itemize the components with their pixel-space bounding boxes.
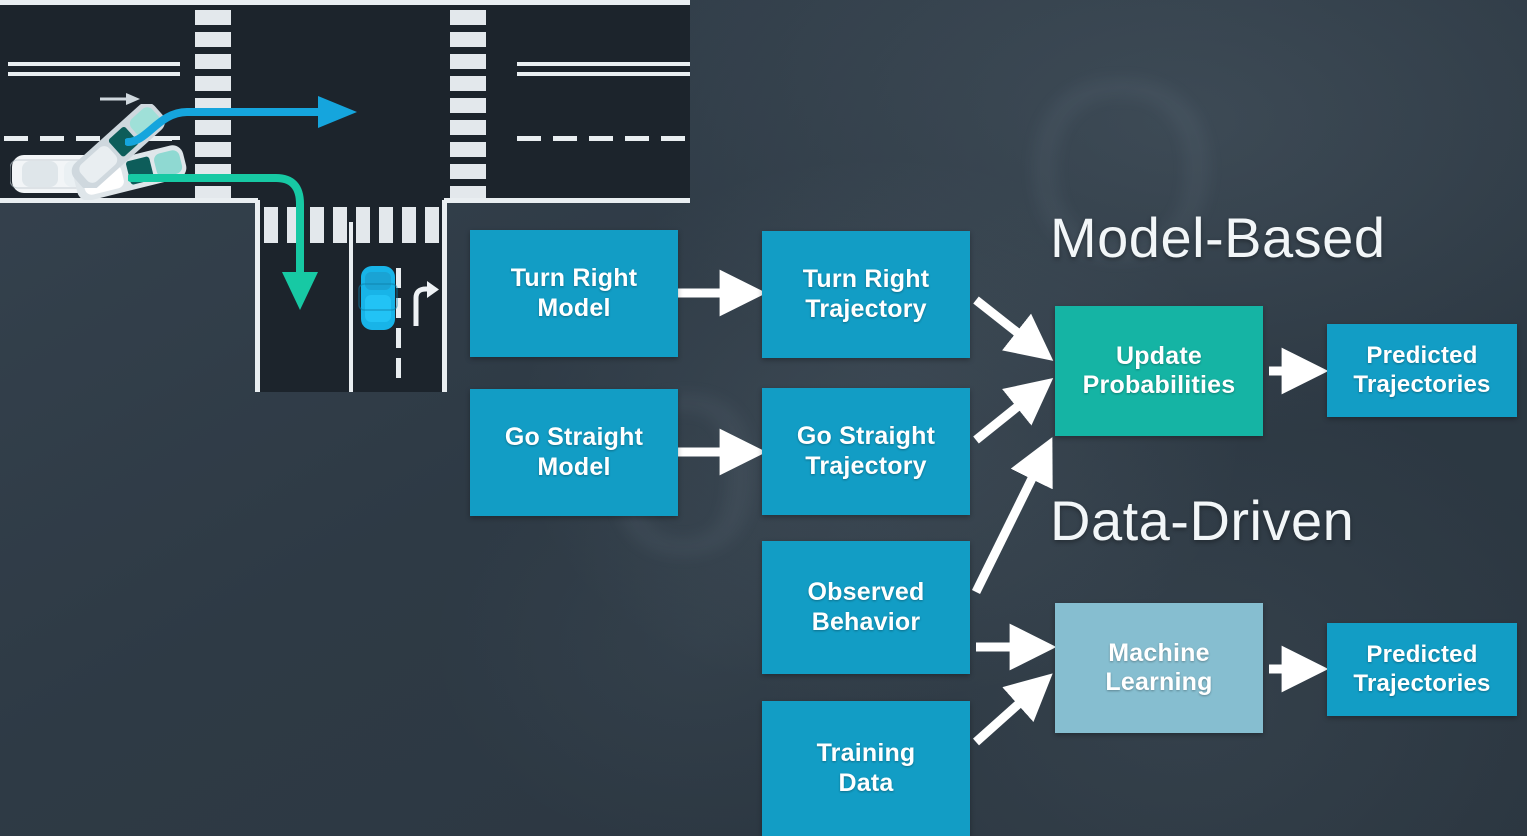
arrow-training-data-to-ml <box>976 683 1042 742</box>
arrow-observed-behavior-to-update <box>976 450 1046 592</box>
lane-divider-solid-d <box>517 72 690 76</box>
lane-dash <box>625 136 649 141</box>
crosswalk-stripe <box>450 32 486 47</box>
lane-dash <box>517 136 541 141</box>
crosswalk-stripe <box>333 207 347 243</box>
node-update-probabilities[interactable]: UpdateProbabilities <box>1055 306 1263 436</box>
road-edge-line-cross-inner <box>349 222 353 392</box>
diagram-canvas: o O <box>0 0 1527 836</box>
road-edge-line-cross-right <box>442 200 447 392</box>
trajectory-go-straight <box>125 90 365 150</box>
turn-right-arrow-icon <box>409 280 441 328</box>
lane-dash <box>661 136 685 141</box>
lane-divider-solid-c <box>517 62 690 66</box>
crosswalk-stripe <box>195 32 231 47</box>
crosswalk-stripe <box>356 207 370 243</box>
crosswalk-stripe <box>450 164 486 179</box>
lane-dash <box>40 136 64 141</box>
crosswalk-stripe <box>379 207 393 243</box>
crosswalk-stripe <box>195 76 231 91</box>
road-edge-line-top <box>0 0 690 5</box>
heading-data-driven: Data-Driven <box>1050 488 1354 553</box>
node-observed-behavior[interactable]: ObservedBehavior <box>762 541 970 674</box>
crosswalk-stripe <box>195 54 231 69</box>
road-edge-line-bottom-right <box>444 198 690 203</box>
arrow-turn-right-trajectory-to-update <box>976 300 1042 352</box>
crosswalk-stripe <box>450 10 486 25</box>
trajectory-turn-right <box>128 168 318 314</box>
crosswalk-stripe <box>195 10 231 25</box>
crosswalk-stripe <box>450 120 486 135</box>
arrow-go-straight-trajectory-to-update <box>976 387 1042 440</box>
cross-street-car-blue <box>358 264 398 332</box>
lane-divider-solid-a <box>8 62 180 66</box>
lane-dash <box>553 136 577 141</box>
heading-model-based: Model-Based <box>1050 205 1385 270</box>
node-turn-right-model[interactable]: Turn RightModel <box>470 230 678 357</box>
node-go-straight-trajectory[interactable]: Go StraightTrajectory <box>762 388 970 515</box>
node-go-straight-model[interactable]: Go StraightModel <box>470 389 678 516</box>
crosswalk-stripe <box>450 186 486 198</box>
lane-dash <box>4 136 28 141</box>
crosswalk-stripe <box>450 76 486 91</box>
node-machine-learning[interactable]: MachineLearning <box>1055 603 1263 733</box>
crosswalk-stripe <box>450 142 486 157</box>
crosswalk-stripe <box>425 207 439 243</box>
node-turn-right-trajectory[interactable]: Turn RightTrajectory <box>762 231 970 358</box>
node-predicted-trajectories-model-based[interactable]: PredictedTrajectories <box>1327 324 1517 417</box>
crosswalk-stripe <box>450 54 486 69</box>
cross-street-lane-dash <box>396 358 401 378</box>
node-training-data[interactable]: TrainingData <box>762 701 970 836</box>
lane-divider-solid-b <box>8 72 180 76</box>
crosswalk-stripe <box>450 98 486 113</box>
lane-dash <box>589 136 613 141</box>
node-predicted-trajectories-data-driven[interactable]: PredictedTrajectories <box>1327 623 1517 716</box>
crosswalk-stripe <box>402 207 416 243</box>
